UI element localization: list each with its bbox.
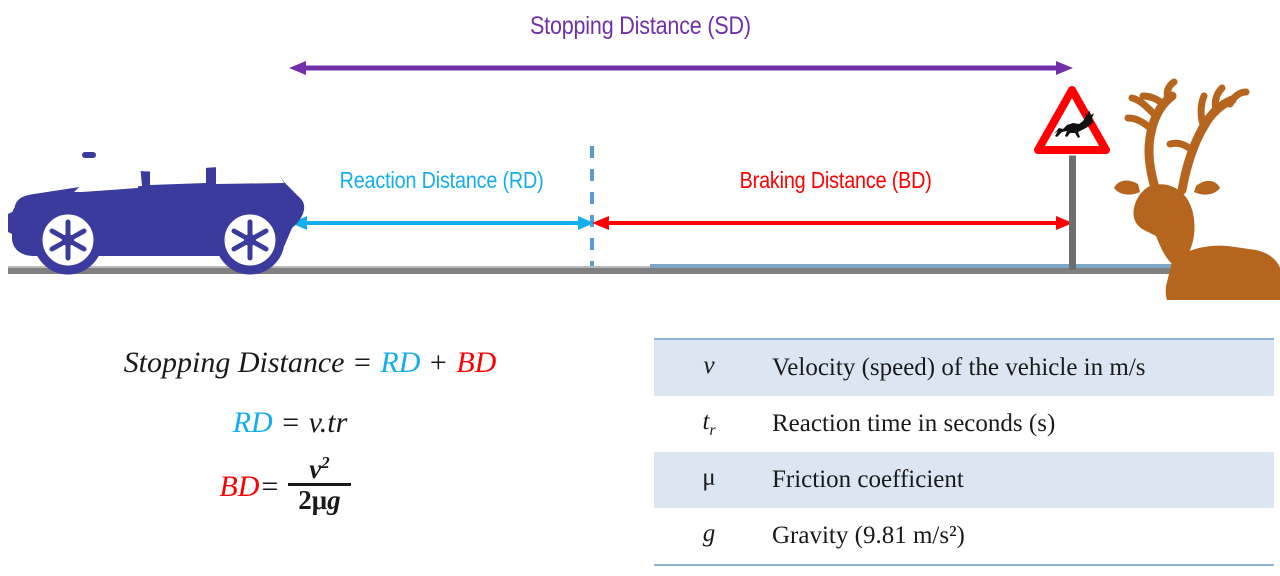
legend-symbol-subscript: r [709, 422, 715, 439]
reaction-distance-label-text: Reaction Distance (RD) [340, 167, 544, 194]
formula-sd-equals: = [352, 346, 373, 379]
legend-symbol: μ [702, 464, 715, 491]
formula-bd-lhs: BD [219, 470, 259, 504]
formula-rd-lhs: RD [233, 406, 273, 439]
formula-sd-plus: + [428, 346, 449, 379]
stopping-distance-arrow [289, 61, 1073, 75]
legend-symbol-cell: tr [654, 396, 764, 452]
stopping-distance-label-text: Stopping Distance (SD) [530, 12, 751, 41]
reaction-distance-label: Reaction Distance (RD) [292, 167, 592, 194]
formula-bd-denominator: 2μg [288, 486, 350, 516]
stopping-distance-label: Stopping Distance (SD) [0, 12, 1280, 41]
table-row: v Velocity (speed) of the vehicle in m/s [654, 340, 1274, 396]
stopping-distance-scene [0, 0, 1280, 300]
variable-legend-table: v Velocity (speed) of the vehicle in m/s… [654, 338, 1274, 566]
legend-symbol: v [703, 352, 714, 379]
formula-reaction-distance: RD = v.tr [0, 406, 580, 440]
formula-bd-num-exponent: 2 [321, 453, 329, 472]
formula-sd-bd: BD [456, 346, 496, 379]
formula-rd-equals: = [280, 406, 301, 439]
formula-bd-den-g: g [327, 485, 341, 515]
road-line [8, 264, 1272, 274]
diagram-stage: Stopping Distance (SD) Reaction Distance… [0, 0, 1280, 576]
formula-bd-den-coeff: 2 [298, 485, 312, 515]
legend-symbol: g [703, 520, 716, 547]
formula-bd-num-base: v [309, 454, 321, 484]
formula-bd-equals: = [259, 470, 280, 504]
legend-description: Velocity (speed) of the vehicle in m/s [764, 340, 1274, 396]
braking-distance-label: Braking Distance (BD) [600, 167, 1072, 194]
legend-description: Gravity (9.81 m/s²) [764, 508, 1274, 564]
formula-sd-rd: RD [380, 346, 420, 379]
legend-description: Friction coefficient [764, 452, 1274, 508]
legend-symbol-cell: g [654, 508, 764, 564]
formula-sd-lhs: Stopping Distance [124, 346, 345, 379]
formula-rd-v: v [309, 406, 320, 439]
formula-bd-fraction: v2 2μg [288, 454, 350, 516]
table-row: g Gravity (9.81 m/s²) [654, 508, 1274, 564]
formula-block: Stopping Distance = RD + BD RD = v.tr BD… [0, 336, 640, 576]
legend-description: Reaction time in seconds (s) [764, 396, 1274, 452]
legend-symbol-cell: v [654, 340, 764, 396]
table-row: tr Reaction time in seconds (s) [654, 396, 1274, 452]
table-row: μ Friction coefficient [654, 452, 1274, 508]
formula-bd-den-mu: μ [312, 485, 327, 515]
braking-distance-arrow [592, 216, 1073, 230]
formula-bd-numerator: v2 [299, 454, 339, 483]
formula-rd-t: t [327, 406, 335, 439]
formula-rd-r: r [336, 406, 348, 439]
car-icon [8, 152, 304, 270]
reaction-distance-arrow [291, 216, 594, 230]
formula-stopping-distance: Stopping Distance = RD + BD [0, 346, 620, 380]
formula-braking-distance: BD = v2 2μg [0, 456, 570, 518]
braking-distance-label-text: Braking Distance (BD) [740, 167, 932, 194]
legend-symbol-cell: μ [654, 452, 764, 508]
